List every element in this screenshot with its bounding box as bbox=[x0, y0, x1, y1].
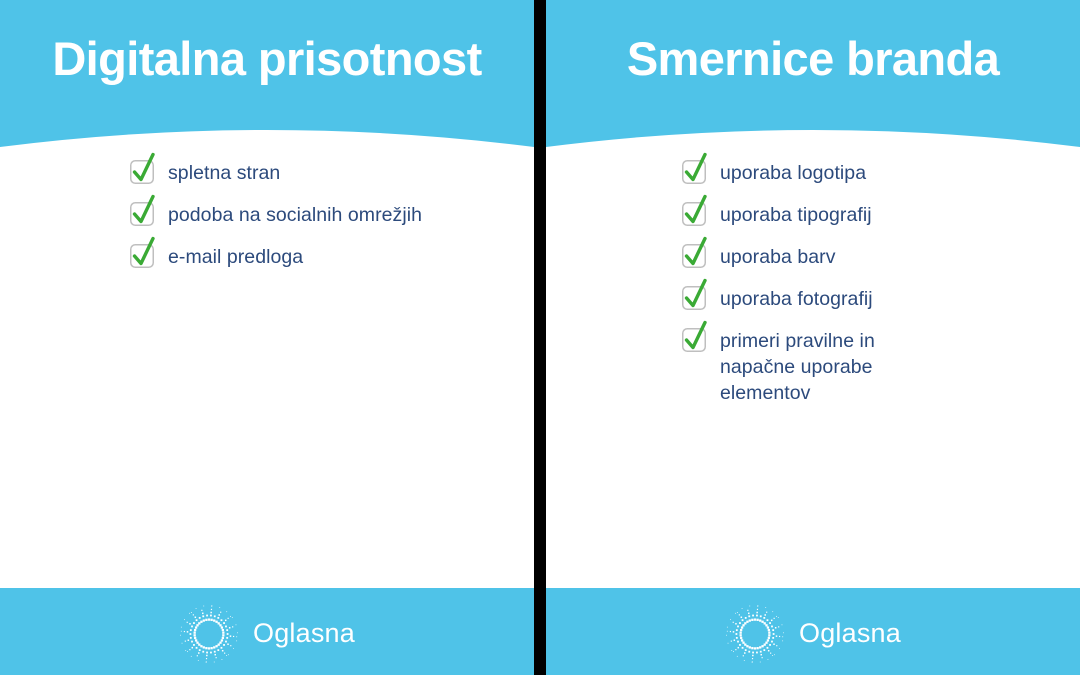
checkbox-checked-icon[interactable] bbox=[682, 286, 706, 310]
panel-smernice-branda: Smernice branda uporaba logotipa bbox=[546, 0, 1080, 675]
slide-canvas: Digitalna prisotnost spletna stran bbox=[0, 0, 1080, 675]
list-item-label: podoba na socialnih omrežjih bbox=[168, 202, 422, 228]
list-item[interactable]: uporaba fotografij bbox=[682, 286, 1060, 312]
checkbox-checked-icon[interactable] bbox=[682, 244, 706, 268]
checkbox-checked-icon[interactable] bbox=[130, 160, 154, 184]
checkbox-checked-icon[interactable] bbox=[682, 160, 706, 184]
checkbox-checked-icon[interactable] bbox=[682, 202, 706, 226]
list-item[interactable]: primeri pravilne in napačne uporabe elem… bbox=[682, 328, 1060, 406]
list-item-label: primeri pravilne in napačne uporabe elem… bbox=[720, 328, 950, 406]
panel-footer-right: Oglasna bbox=[546, 588, 1080, 675]
list-item[interactable]: podoba na socialnih omrežjih bbox=[130, 202, 514, 228]
list-item[interactable]: uporaba tipografij bbox=[682, 202, 1060, 228]
list-item-label: uporaba barv bbox=[720, 244, 836, 270]
brand-name: Oglasna bbox=[253, 618, 355, 649]
brand-logo-left[interactable]: Oglasna bbox=[179, 604, 355, 664]
panel-header-left: Digitalna prisotnost bbox=[0, 0, 534, 150]
checklist-left: spletna stran podoba na socialnih omrežj… bbox=[0, 160, 534, 270]
brand-logo-right[interactable]: Oglasna bbox=[725, 604, 901, 664]
list-item-label: uporaba tipografij bbox=[720, 202, 872, 228]
panel-header-right: Smernice branda bbox=[546, 0, 1080, 150]
list-item[interactable]: uporaba logotipa bbox=[682, 160, 1060, 186]
checkbox-checked-icon[interactable] bbox=[130, 244, 154, 268]
list-item[interactable]: spletna stran bbox=[130, 160, 514, 186]
list-item-label: uporaba logotipa bbox=[720, 160, 866, 186]
list-item-label: spletna stran bbox=[168, 160, 280, 186]
sunburst-dots-icon bbox=[179, 604, 239, 664]
sunburst-dots-icon bbox=[725, 604, 785, 664]
checklist-right: uporaba logotipa uporaba tipografij bbox=[546, 160, 1080, 406]
panel-digitalna-prisotnost: Digitalna prisotnost spletna stran bbox=[0, 0, 534, 675]
panel-footer-left: Oglasna bbox=[0, 588, 534, 675]
page-title-left: Digitalna prisotnost bbox=[0, 0, 534, 118]
page-title-right: Smernice branda bbox=[546, 0, 1080, 118]
checkbox-checked-icon[interactable] bbox=[130, 202, 154, 226]
checkbox-checked-icon[interactable] bbox=[682, 328, 706, 352]
list-item-label: e-mail predloga bbox=[168, 244, 303, 270]
list-item[interactable]: uporaba barv bbox=[682, 244, 1060, 270]
list-item[interactable]: e-mail predloga bbox=[130, 244, 514, 270]
list-item-label: uporaba fotografij bbox=[720, 286, 873, 312]
panel-divider bbox=[534, 0, 546, 675]
brand-name: Oglasna bbox=[799, 618, 901, 649]
